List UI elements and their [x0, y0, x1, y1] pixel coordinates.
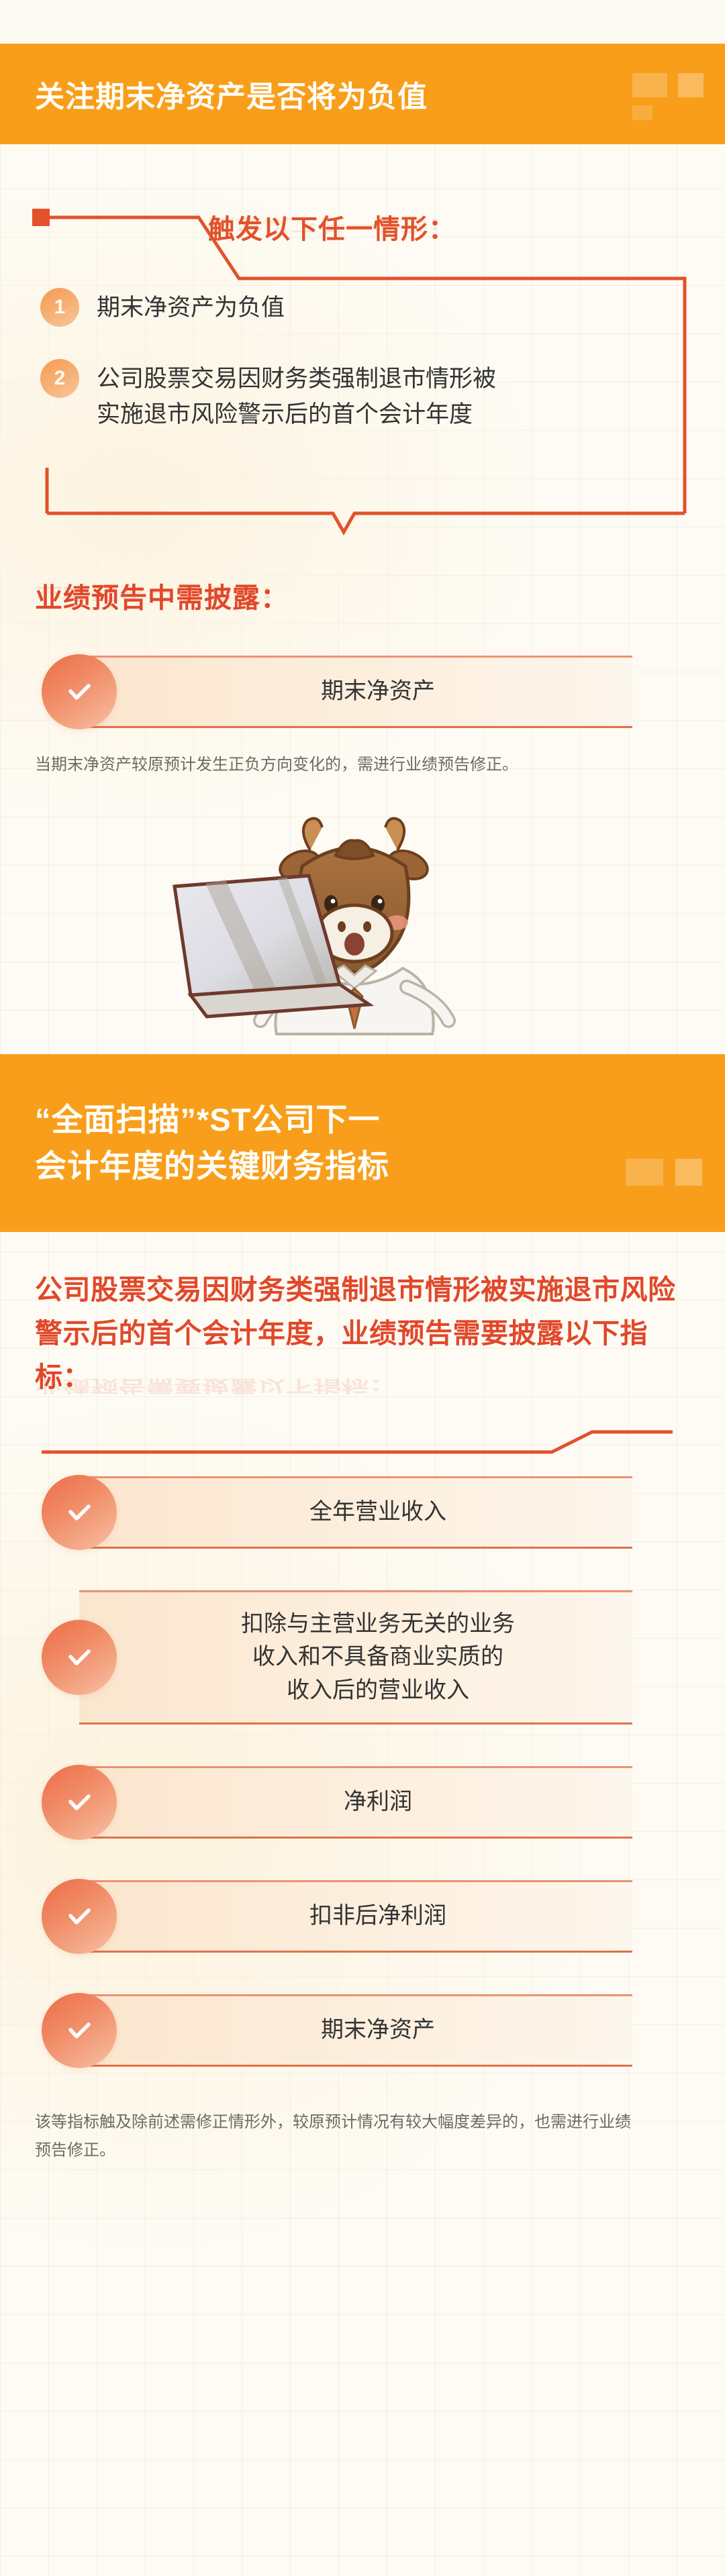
- list-number-badge: 1: [40, 288, 79, 327]
- check-row-label: 期末净资产: [117, 675, 632, 708]
- banner-decoration-block: [626, 1159, 663, 1186]
- list-item: 1 期末净资产为负值: [40, 287, 631, 327]
- banner-decoration-block: [675, 1159, 702, 1186]
- section1-banner: 关注期末净资产是否将为负值: [0, 44, 725, 144]
- check-row-label: 扣非后净利润: [117, 1900, 632, 1933]
- check-icon: [42, 1475, 117, 1550]
- check-row-label: 期末净资产: [117, 2014, 632, 2047]
- section-key-indicators: “全面扫描”*ST公司下一 会计年度的关键财务指标 公司股票交易因财务类强制退市…: [0, 1054, 725, 2225]
- banner-decoration-block: [632, 73, 667, 97]
- cow-mascot-with-laptop-icon: [168, 786, 544, 1054]
- check-row: 期末净资产: [42, 656, 632, 728]
- list-number-badge: 2: [40, 359, 79, 398]
- section2-title: “全面扫描”*ST公司下一 会计年度的关键财务指标: [35, 1097, 389, 1188]
- section1-title: 关注期末净资产是否将为负值: [35, 72, 428, 115]
- check-row: 期末净资产: [42, 1994, 632, 2067]
- trigger-heading: 触发以下任一情形：: [208, 207, 456, 246]
- section1-body: 触发以下任一情形： 触发以下任一情形： 1 期末净资产为负值 2 公司股票交易因…: [0, 179, 725, 1054]
- list-item: 2 公司股票交易因财务类强制退市情形被 实施退市风险警示后的首个会计年度: [40, 358, 631, 432]
- check-icon: [42, 1993, 117, 2068]
- section2-lead-group: 公司股票交易因财务类强制退市情形被实施退市风险警示后的首个会计年度，业绩预告需要…: [35, 1268, 725, 1429]
- check-row-label: 净利润: [117, 1786, 632, 1818]
- trigger-conditions-list: 1 期末净资产为负值 2 公司股票交易因财务类强制退市情形被 实施退市风险警示后…: [40, 287, 631, 463]
- section2-footnote: 该等指标触及除前述需修正情形外，较原预计情况有较大幅度差异的，也需进行业绩预告修…: [35, 2108, 639, 2225]
- disclose-heading-reflection: 业绩预告中需披露：: [35, 583, 289, 607]
- section2-banner: “全面扫描”*ST公司下一 会计年度的关键财务指标: [0, 1054, 725, 1232]
- section2-lead-reflection: 业绩预告需要披露以下指标：: [35, 1376, 397, 1400]
- check-row-label: 全年营业收入: [117, 1496, 632, 1529]
- list-item-text: 公司股票交易因财务类强制退市情形被 实施退市风险警示后的首个会计年度: [97, 358, 496, 432]
- check-icon: [42, 654, 117, 729]
- check-row: 全年营业收入: [42, 1476, 632, 1549]
- check-row: 扣除与主营业务无关的业务 收入和不具备商业实质的 收入后的营业收入: [42, 1590, 632, 1724]
- check-row-label: 扣除与主营业务无关的业务 收入和不具备商业实质的 收入后的营业收入: [117, 1608, 632, 1707]
- banner-decoration-block: [678, 73, 704, 97]
- check-row: 净利润: [42, 1766, 632, 1839]
- section1-footnote: 当期末净资产较原预计发生正负方向变化的，需进行业绩预告修正。: [35, 751, 639, 779]
- trigger-bracket-group: 触发以下任一情形： 触发以下任一情形： 1 期末净资产为负值 2 公司股票交易因…: [0, 179, 725, 555]
- check-icon: [42, 1765, 117, 1840]
- infographic-page: 关注期末净资产是否将为负值 触发以下任一情形： 触发以下任一情形：: [0, 44, 725, 2225]
- check-icon: [42, 1879, 117, 1954]
- mascot-illustration: [0, 786, 725, 1054]
- check-icon: [42, 1620, 117, 1695]
- check-row: 扣非后净利润: [42, 1880, 632, 1953]
- banner-decoration-block: [632, 105, 652, 120]
- list-item-text: 期末净资产为负值: [97, 287, 285, 326]
- indicator-check-list: 全年营业收入 扣除与主营业务无关的业务 收入和不具备商业实质的 收入后的营业收入: [0, 1476, 725, 2067]
- disclose-heading-group: 业绩预告中需披露： 业绩预告中需披露：: [35, 575, 725, 656]
- section-net-assets: 关注期末净资产是否将为负值 触发以下任一情形： 触发以下任一情形：: [0, 44, 725, 1054]
- section2-rule-decoration: [42, 1429, 673, 1456]
